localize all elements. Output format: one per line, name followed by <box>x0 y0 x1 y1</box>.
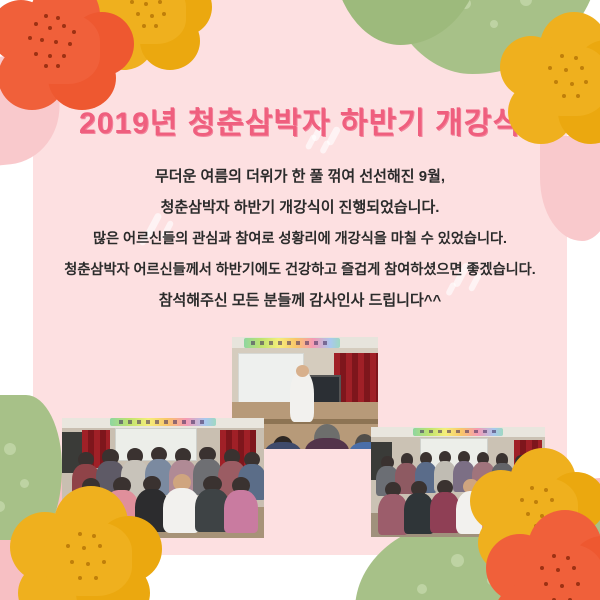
body-line-3: 많은 어르신들의 관심과 참여로 성황리에 개강식을 마칠 수 있었습니다. <box>30 228 570 250</box>
body-line-1: 무더운 여름의 더위가 한 풀 꺾여 선선해진 9월, <box>30 166 570 188</box>
body-line-2: 청춘삼박자 하반기 개강식이 진행되었습니다. <box>30 197 570 219</box>
flower-center-dots <box>534 554 592 600</box>
photo-banner <box>244 338 340 348</box>
flower-center-dots <box>126 0 174 34</box>
flower-orange-bottom-right <box>486 510 600 600</box>
flower-center-dots <box>544 54 598 104</box>
body-line-4: 청춘삼박자 어르신들께서 하반기에도 건강하고 즐겁게 참여하셨으면 좋겠습니다… <box>30 259 570 281</box>
flower-yellow-bottom-left <box>10 486 162 600</box>
speaker-figure <box>290 371 313 423</box>
flower-orange-top-left <box>0 0 130 116</box>
photo-banner <box>413 428 503 436</box>
body-text-block: 무더운 여름의 더위가 한 풀 꺾여 선선해진 9월, 청춘삼박자 하반기 개강… <box>30 166 570 321</box>
flower-center-dots <box>60 532 118 588</box>
poster-canvas: 2019년 청춘삼박자 하반기 개강식 무더운 여름의 더위가 한 풀 꺾여 선… <box>0 0 600 600</box>
body-line-5: 참석해주신 모든 분들께 감사인사 드립니다^^ <box>30 290 570 312</box>
photo-banner <box>110 418 215 426</box>
flower-yellow-top-right <box>500 12 600 146</box>
flower-center-dots <box>26 14 86 70</box>
speaker-head <box>296 365 309 377</box>
